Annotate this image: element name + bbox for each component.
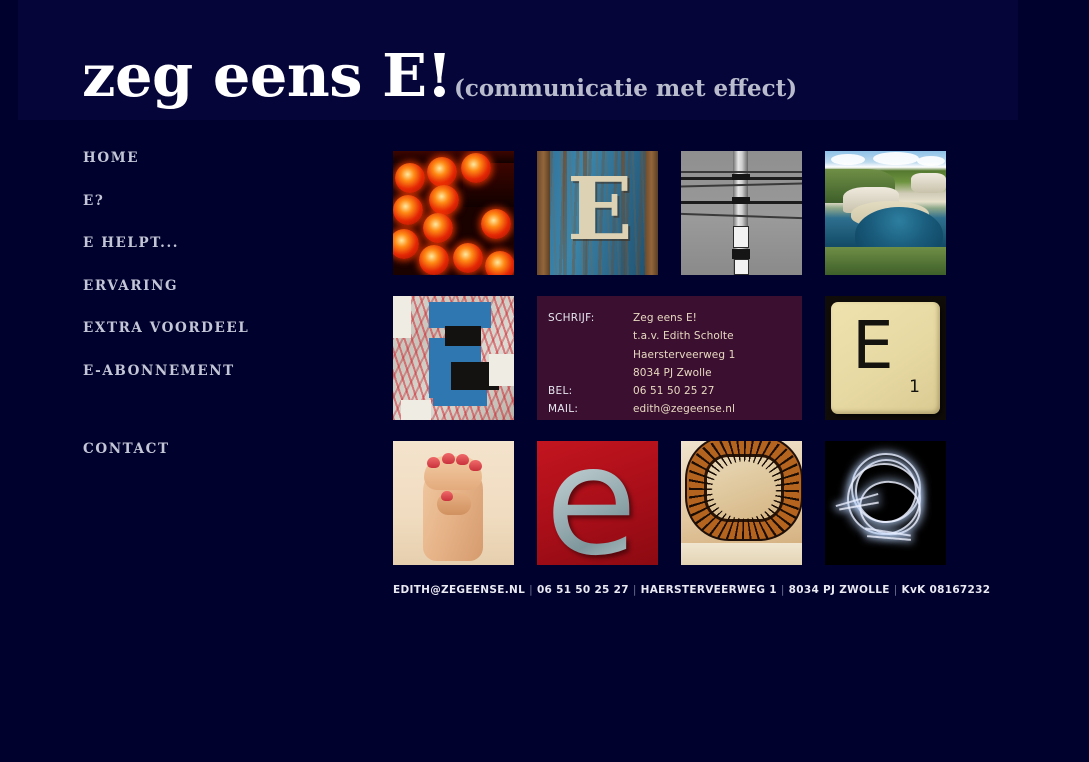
- contact-row-mail: MAIL: edith@zegeense.nl: [548, 400, 802, 418]
- bulb: [423, 213, 453, 243]
- contact-value-company: Zeg eens E!: [633, 309, 697, 327]
- nav-item-contact[interactable]: CONTACT: [83, 441, 343, 457]
- gallery-row-3: e: [393, 441, 947, 565]
- bulb: [427, 157, 457, 187]
- thumbnail-red-light-bulbs-e[interactable]: [393, 151, 514, 275]
- stairs-floor: [681, 543, 802, 565]
- footer-separator: |: [894, 584, 898, 596]
- power-wire: [681, 171, 802, 173]
- nav-item-e-abonnement[interactable]: E-ABONNEMENT: [83, 363, 343, 379]
- contact-label-mail: MAIL:: [548, 400, 633, 418]
- footer-contact-bar: EDITH@ZEGEENSE.NL|06 51 50 25 27|HAERSTE…: [393, 584, 990, 596]
- contact-row-street: Haersterveerweg 1: [548, 346, 802, 364]
- footer-street: HAERSTERVEERWEG 1: [641, 584, 777, 596]
- bulb: [393, 229, 419, 259]
- contact-label-blank: [548, 364, 633, 382]
- bulb: [395, 163, 425, 193]
- thumbnail-scrabble-tile-e[interactable]: E 1: [825, 296, 946, 420]
- bulb: [453, 243, 483, 273]
- white-patch: [489, 354, 514, 386]
- wall-letter-e: E: [567, 173, 633, 246]
- main-navigation: HOME E? E HELPT... ERVARING EXTRA VOORDE…: [83, 150, 343, 483]
- thumbnail-distressed-blue-e[interactable]: [393, 296, 514, 420]
- bulb: [419, 245, 449, 275]
- pole-bracket: [732, 197, 750, 204]
- fingernail: [456, 454, 469, 465]
- nav-item-e-helpt[interactable]: E HELPT...: [83, 235, 343, 251]
- contact-value-street: Haersterveerweg 1: [633, 346, 735, 364]
- pole-box: [732, 249, 750, 259]
- metal-letter-glyph: e: [545, 441, 637, 565]
- footer-separator: |: [633, 584, 637, 596]
- chalk-cliff: [911, 173, 946, 193]
- contact-value-attention: t.a.v. Edith Scholte: [633, 327, 734, 345]
- light-tail: [867, 535, 911, 541]
- white-patch: [401, 400, 431, 420]
- cloud: [831, 154, 865, 165]
- cloud: [917, 156, 945, 166]
- footer-kvk: KvK 08167232: [902, 584, 991, 596]
- contact-label-blank: [548, 346, 633, 364]
- contact-value-phone: 06 51 50 25 27: [633, 382, 715, 400]
- thumbnail-nail: [441, 491, 453, 501]
- thumbnail-utility-pole-wires-e[interactable]: [681, 151, 802, 275]
- nav-item-ervaring[interactable]: ERVARING: [83, 278, 343, 294]
- bulb: [393, 195, 423, 225]
- thumbnail-spiral-staircase[interactable]: [681, 441, 802, 565]
- contact-row-bel: BEL: 06 51 50 25 27: [548, 382, 802, 400]
- bulb: [485, 251, 514, 275]
- thumbnail-blue-rusty-wall-e[interactable]: E: [537, 151, 658, 275]
- bulb: [461, 153, 491, 183]
- scrabble-letter: E: [852, 313, 894, 379]
- contact-label-blank: [548, 327, 633, 345]
- e-top-bar: [429, 302, 491, 328]
- thumbnail-hand-fist-sign-e[interactable]: [393, 441, 514, 565]
- nav-item-extra-voordeel[interactable]: EXTRA VOORDEEL: [83, 320, 343, 336]
- bulb: [429, 185, 459, 215]
- site-masthead: zeg eens E! (communicatie met effect): [82, 46, 797, 105]
- e-bottom-bar: [433, 388, 487, 406]
- cloud: [873, 152, 919, 165]
- fingernail: [442, 453, 455, 464]
- gallery-row-1: E: [393, 151, 947, 275]
- bulb: [481, 209, 511, 239]
- contact-row-schrijf: SCHRIJF: Zeg eens E!: [548, 309, 802, 327]
- wall-plank-right: [645, 151, 658, 275]
- foreground-grass: [825, 247, 946, 275]
- footer-phone: 06 51 50 25 27: [537, 584, 629, 596]
- thumbnail-metal-letter-e-red[interactable]: e: [537, 441, 658, 565]
- wall-plank-left: [537, 151, 550, 275]
- thumbnail-coastal-cliff-bay[interactable]: [825, 151, 946, 275]
- contact-value-email[interactable]: edith@zegeense.nl: [633, 400, 735, 418]
- footer-separator: |: [781, 584, 785, 596]
- contact-row-city: 8034 PJ Zwolle: [548, 364, 802, 382]
- pole-bracket: [732, 174, 750, 180]
- bulb-frame-top: [393, 151, 514, 163]
- image-gallery-grid: E: [393, 151, 947, 586]
- white-patch: [393, 296, 411, 338]
- contact-row-attention: t.a.v. Edith Scholte: [548, 327, 802, 345]
- site-tagline: (communicatie met effect): [454, 77, 797, 100]
- pole-box: [734, 259, 749, 275]
- nav-item-home[interactable]: HOME: [83, 150, 343, 166]
- scrabble-score: 1: [909, 377, 920, 397]
- contact-label-bel: BEL:: [548, 382, 633, 400]
- nav-item-e-vraag[interactable]: E?: [83, 193, 343, 209]
- dark-patch: [445, 326, 481, 346]
- fingernail: [469, 460, 482, 471]
- thumbnail-light-painting-e[interactable]: [825, 441, 946, 565]
- contact-label-schrijf: SCHRIJF:: [548, 309, 633, 327]
- footer-email[interactable]: EDITH@ZEGEENSE.NL: [393, 584, 525, 596]
- pole-box: [733, 226, 749, 248]
- contact-info-panel: SCHRIJF: Zeg eens E! t.a.v. Edith Scholt…: [537, 296, 802, 420]
- contact-value-city: 8034 PJ Zwolle: [633, 364, 712, 382]
- site-logo[interactable]: zeg eens E!: [82, 46, 452, 105]
- stair-treads: [689, 441, 799, 539]
- fingernail: [427, 457, 440, 468]
- footer-separator: |: [529, 584, 533, 596]
- footer-city: 8034 PJ ZWOLLE: [789, 584, 890, 596]
- gallery-row-2: SCHRIJF: Zeg eens E! t.a.v. Edith Scholt…: [393, 296, 947, 420]
